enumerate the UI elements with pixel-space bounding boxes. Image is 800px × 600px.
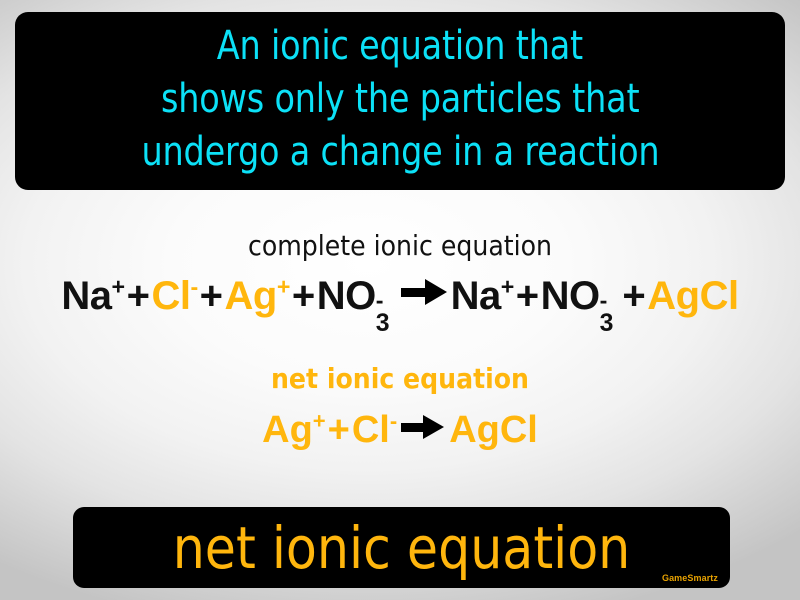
net-ionic-equation: Ag+ + Cl- AgCl <box>0 409 800 452</box>
subscript: 3 <box>600 312 613 337</box>
charge-sign: + <box>501 274 514 300</box>
definition-line-1: An ionic equation that <box>217 20 583 73</box>
charge-sign: + <box>313 408 326 433</box>
equations-section: complete ionic equation Na+ + Cl- + Ag+ … <box>0 196 800 496</box>
species-no3-minus-reactant: NO-3 <box>317 274 397 319</box>
term-title: net ionic equation <box>83 507 720 588</box>
species-na-plus-reactant: Na+ <box>61 274 124 319</box>
complete-ionic-equation: Na+ + Cl- + Ag+ + NO-3 Na+ + NO-3 + AgCl <box>0 274 800 319</box>
definition-line-3: undergo a change in a reaction <box>141 126 659 179</box>
complete-ionic-equation-label: complete ionic equation <box>0 231 800 261</box>
species-no3-minus-product: NO-3 <box>541 274 621 319</box>
plus-operator-2: + <box>198 274 225 319</box>
species-ag-plus-reactant: Ag+ <box>225 274 290 319</box>
species-cl-minus-reactant: Cl- <box>151 274 197 319</box>
species-na-plus-product: Na+ <box>451 274 514 319</box>
plus-operator-1: + <box>125 274 152 319</box>
charge-sign: - <box>190 274 197 300</box>
right-arrow-icon <box>401 415 445 439</box>
species-agcl-product: AgCl <box>647 274 738 319</box>
definition-banner: An ionic equation that shows only the pa… <box>15 12 785 190</box>
plus-operator-3: + <box>290 274 317 319</box>
charge-sign: - <box>390 408 397 433</box>
charge-sign: + <box>112 274 125 300</box>
right-arrow-icon <box>401 279 447 305</box>
charge-sign: + <box>277 274 290 300</box>
net-species-agcl: AgCl <box>449 409 538 452</box>
net-plus-operator: + <box>326 409 352 452</box>
watermark-gamesmartz: GameSmartz <box>662 573 718 583</box>
net-species-cl-minus: Cl- <box>352 409 397 452</box>
charge-sign: - <box>600 289 607 312</box>
plus-operator-4: + <box>514 274 541 319</box>
subscript: 3 <box>376 312 389 337</box>
definition-line-2: shows only the particles that <box>161 73 639 126</box>
plus-operator-5: + <box>620 274 647 319</box>
term-banner: net ionic equation GameSmartz <box>73 507 730 588</box>
net-ionic-equation-label: net ionic equation <box>0 364 800 394</box>
flashcard: An ionic equation that shows only the pa… <box>0 0 800 600</box>
net-species-ag-plus: Ag+ <box>262 409 326 452</box>
charge-sign: - <box>376 289 383 312</box>
